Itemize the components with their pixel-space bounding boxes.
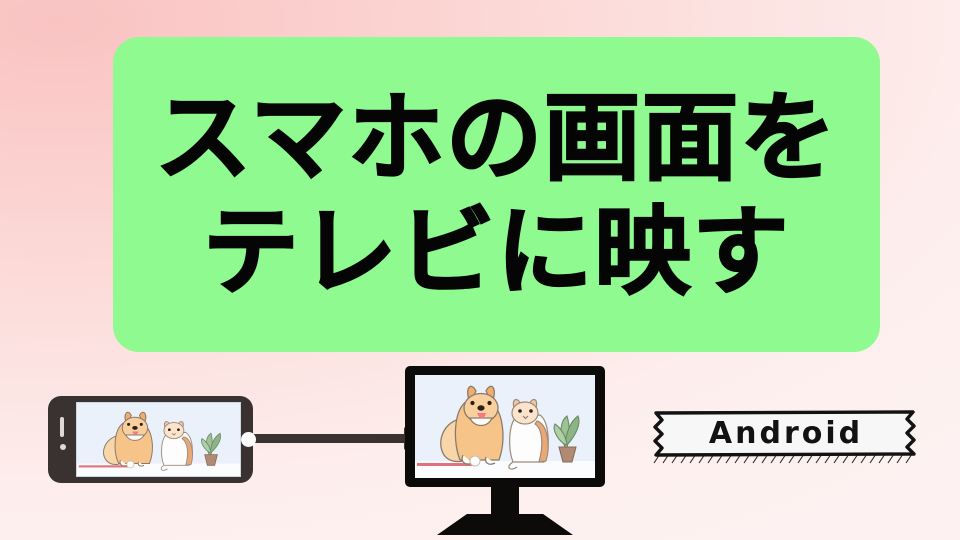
- connection-cable: [252, 434, 412, 443]
- android-badge: Android: [650, 408, 922, 464]
- title-line-1: スマホの画面を: [155, 90, 838, 186]
- phone-home-button-icon: [241, 432, 256, 447]
- ribbon-shape-icon: [650, 408, 922, 464]
- tv-stand-neck: [491, 487, 519, 517]
- title-line-2: テレビに映す: [203, 204, 791, 300]
- tv-illustration: [405, 366, 605, 536]
- phone-artwork-dog-cat-plant: [77, 403, 240, 476]
- tv-stand-base: [437, 514, 573, 535]
- phone-camera-icon: [60, 444, 66, 450]
- phone-screen: [76, 402, 241, 477]
- title-panel: スマホの画面を テレビに映す: [113, 37, 880, 352]
- poster-canvas: スマホの画面を テレビに映す: [0, 0, 960, 540]
- tv-body: [405, 366, 605, 487]
- tv-artwork-dog-cat-plant: [415, 375, 595, 478]
- smartphone-illustration: [48, 396, 253, 483]
- phone-speaker-icon: [60, 417, 64, 437]
- tv-screen: [415, 375, 595, 478]
- title-text-block: スマホの画面を テレビに映す: [113, 37, 880, 352]
